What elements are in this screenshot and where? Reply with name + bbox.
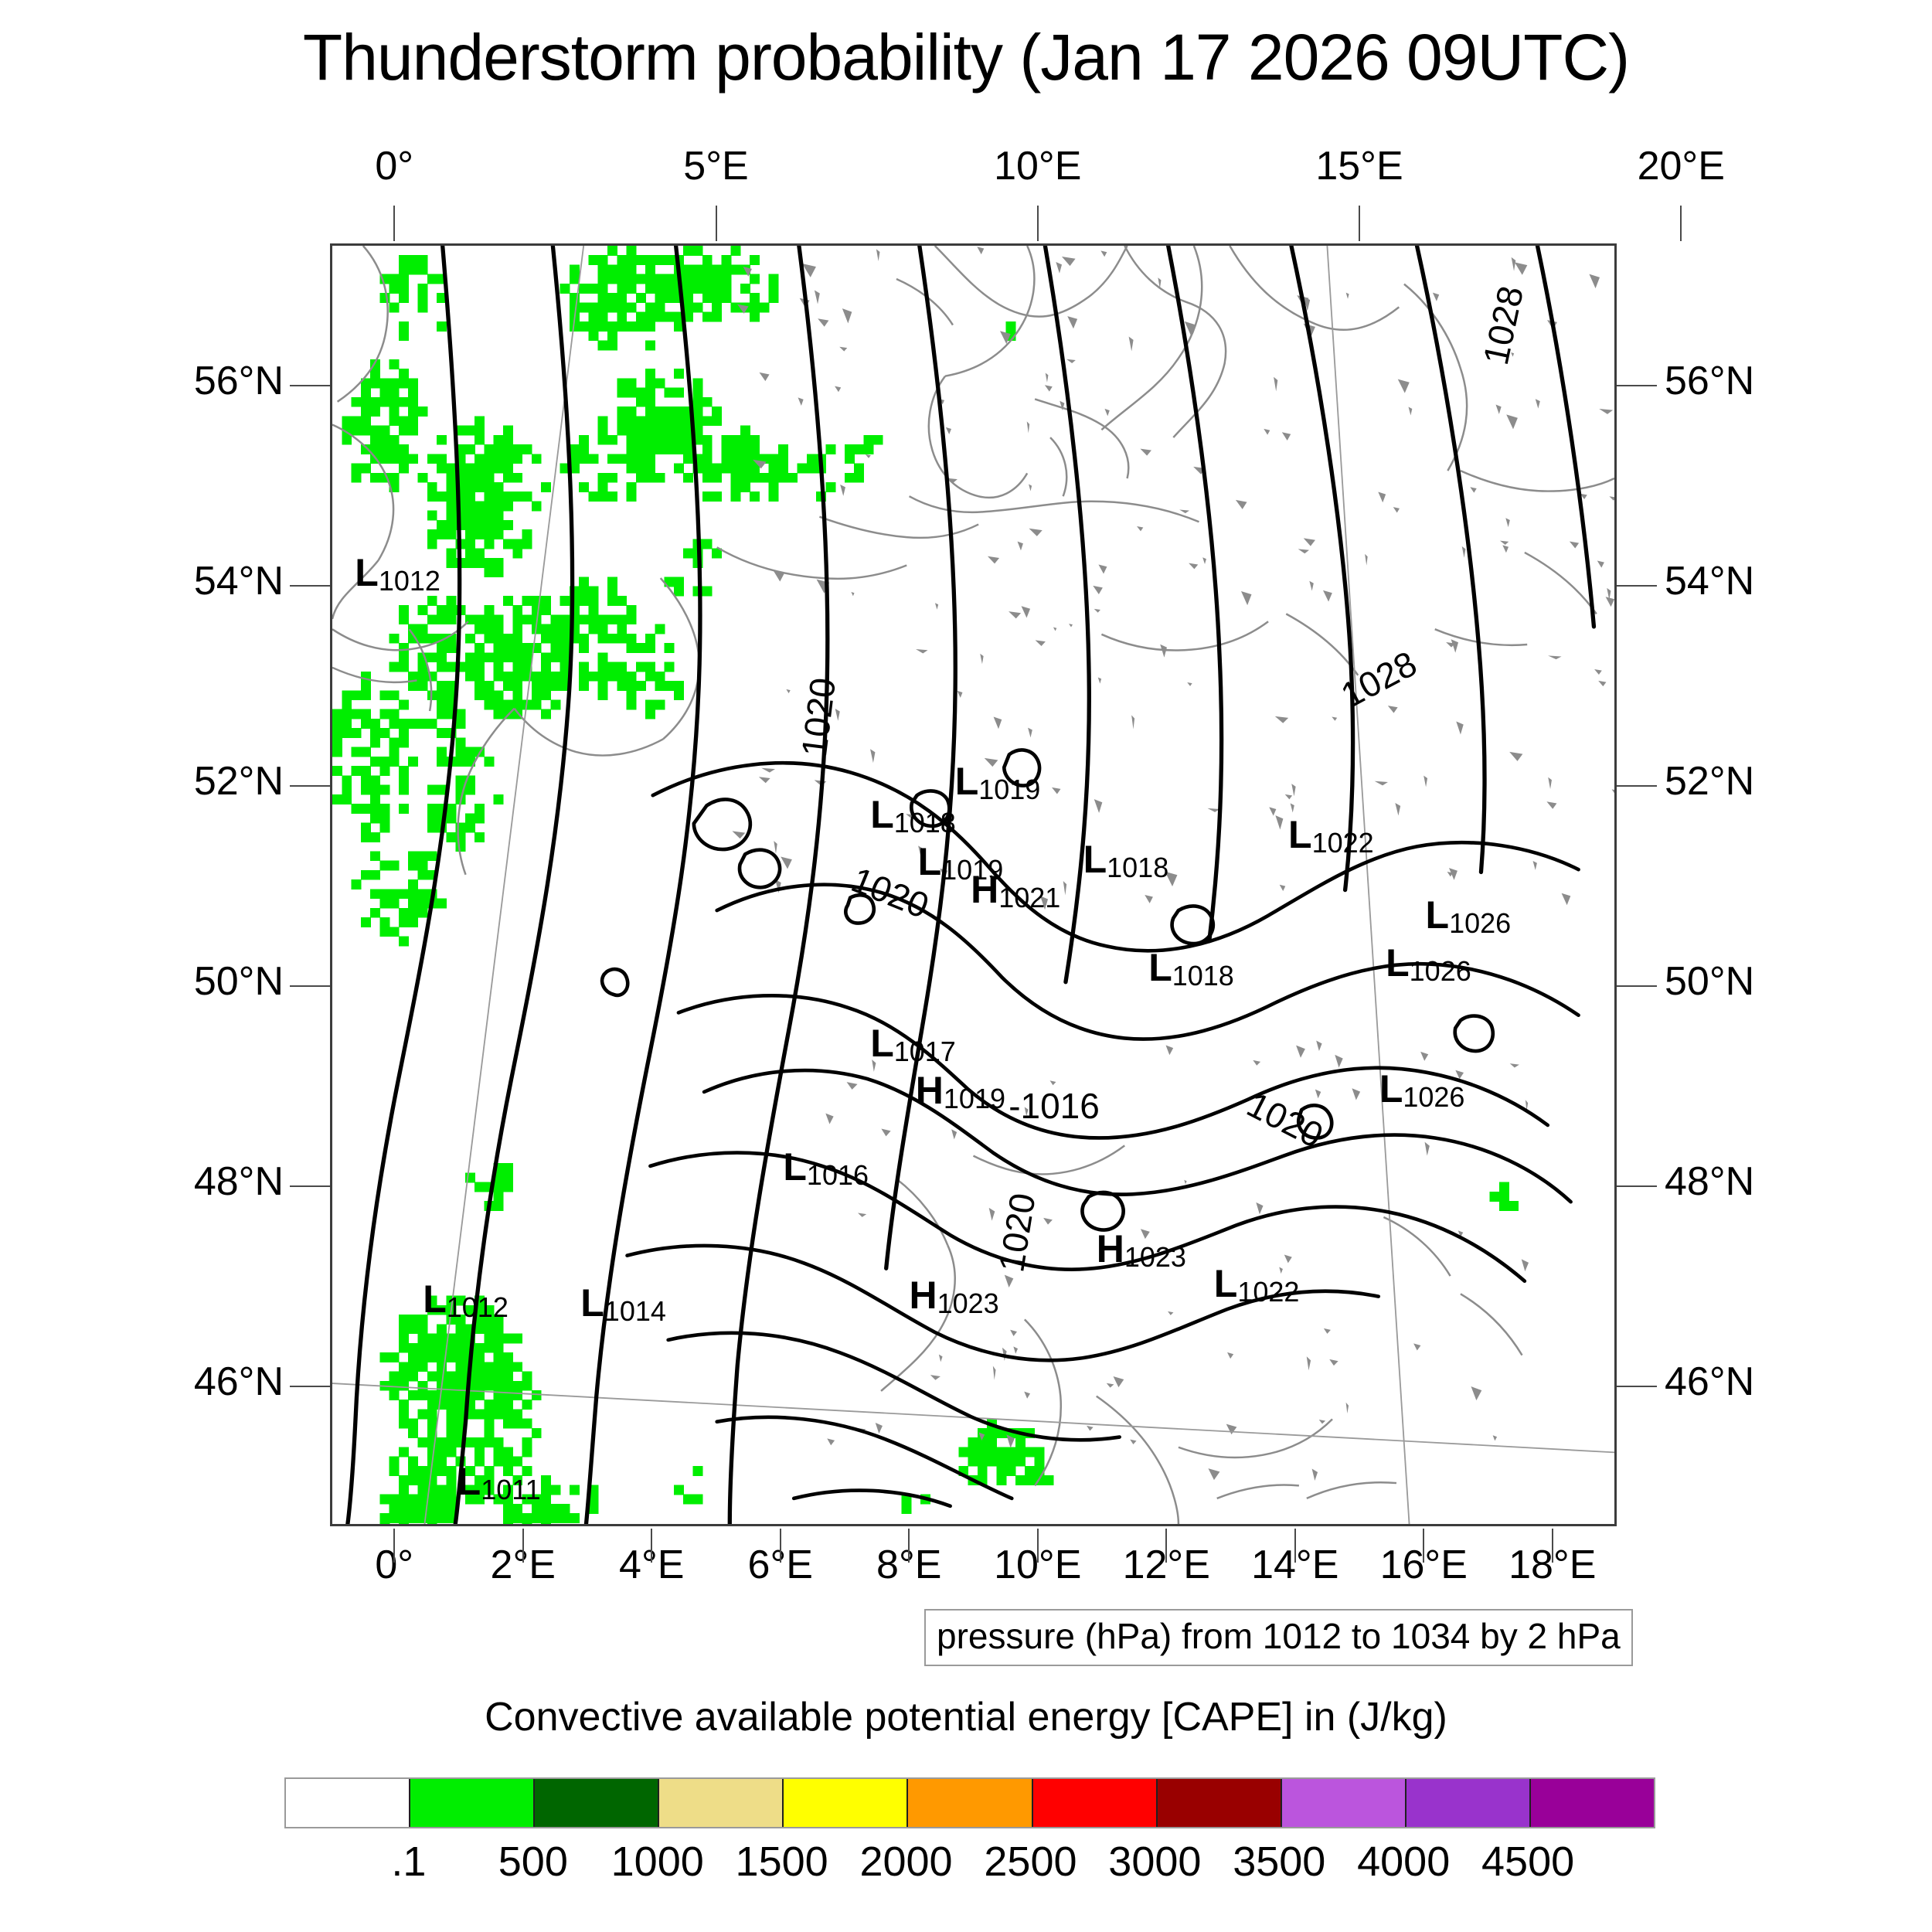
pressure-center-type: L [1148, 946, 1172, 989]
colorbar-caption: Convective available potential energy [C… [0, 1694, 1932, 1740]
pressure-center-l-18: L1014 [580, 1284, 666, 1325]
colorbar-label-7: 3500 [1233, 1838, 1325, 1886]
colorbar-swatch-6[interactable] [1032, 1779, 1156, 1827]
pressure-center-value: 1026 [1449, 907, 1511, 939]
lat-right-tick-4: 48°N [1665, 1158, 1842, 1205]
lon-top-tick-4: 20°E [1596, 143, 1766, 189]
pressure-center-type: L [870, 1022, 894, 1065]
pressure-center-type: L [955, 760, 979, 803]
pressure-center-value: 1016 [807, 1159, 869, 1191]
pressure-center-l-17: L1012 [423, 1280, 509, 1321]
pressure-center-type: H [1097, 1227, 1124, 1270]
lat-left-tick-2: 52°N [106, 758, 284, 804]
lon-top-tick-3: 15°E [1274, 143, 1444, 189]
pressure-center-type: L [1288, 813, 1312, 856]
colorbar-swatch-7[interactable] [1156, 1779, 1281, 1827]
pressure-center-value: 1018 [1107, 852, 1168, 883]
pressure-center-type: L [580, 1281, 604, 1325]
lat-right-tick-2: 52°N [1665, 758, 1842, 804]
pressure-center-value: 1026 [1410, 955, 1471, 987]
colorbar-label-6: 3000 [1108, 1838, 1201, 1886]
lat-left-tickmark-5 [290, 1386, 332, 1387]
lon-top-tick-2: 10°E [953, 143, 1123, 189]
lat-right-tickmark-2 [1615, 785, 1657, 787]
lon-bottom-tickmark-8 [1423, 1529, 1424, 1563]
pressure-center-value: 1026 [1403, 1081, 1464, 1113]
colorbar-label-4: 2000 [859, 1838, 952, 1886]
colorbar-label-2: 1000 [611, 1838, 704, 1886]
pressure-center-type: L [1379, 1067, 1403, 1111]
pressure-center-value: 1023 [937, 1287, 999, 1319]
lat-right-tickmark-1 [1615, 585, 1657, 587]
lat-right-tick-3: 50°N [1665, 958, 1842, 1005]
lon-top-tick-1: 5°E [631, 143, 801, 189]
pressure-center-l-12: L1026 [1379, 1070, 1465, 1111]
pressure-center-value: 1011 [481, 1474, 540, 1505]
colorbar-swatch-3[interactable] [658, 1779, 782, 1827]
lat-left-tickmark-0 [290, 385, 332, 386]
lat-right-tick-1: 54°N [1665, 558, 1842, 604]
colorbar-swatch-10[interactable] [1529, 1779, 1654, 1827]
colorbar-swatch-8[interactable] [1281, 1779, 1405, 1827]
lon-bottom-tickmark-3 [780, 1529, 781, 1563]
pressure-center-type: H [916, 1069, 944, 1112]
pressure-center-l-8: L1018 [1148, 948, 1234, 990]
pressure-center-l-0: L1012 [355, 553, 440, 595]
pressure-center-l-9: L1026 [1386, 944, 1471, 985]
lon-bottom-tickmark-5 [1037, 1529, 1039, 1563]
pressure-center-type: L [1083, 838, 1107, 881]
colorbar-label-1: 500 [498, 1838, 568, 1886]
lon-top-tickmark-4 [1680, 206, 1682, 241]
lat-left-tickmark-4 [290, 1185, 332, 1187]
pressure-center-type: L [1386, 941, 1410, 985]
lat-left-tickmark-3 [290, 985, 332, 987]
pressure-center-type: L [870, 793, 894, 836]
colorbar-swatch-1[interactable] [409, 1779, 533, 1827]
lat-left-tick-1: 54°N [106, 558, 284, 604]
lat-left-tick-4: 48°N [106, 1158, 284, 1205]
pressure-center-value: 1014 [604, 1295, 666, 1327]
pressure-center-h-11: H1019 [916, 1071, 1005, 1113]
lon-top-tickmark-1 [716, 206, 717, 241]
lon-top-tickmark-0 [393, 206, 395, 241]
lon-bottom-tickmark-2 [651, 1529, 652, 1563]
pressure-center-value: 1018 [1172, 960, 1234, 992]
lat-right-tick-5: 46°N [1665, 1359, 1842, 1405]
lat-left-tickmark-1 [290, 585, 332, 587]
colorbar-label-3: 1500 [736, 1838, 828, 1886]
lon-bottom-tickmark-4 [908, 1529, 910, 1563]
lon-bottom-tickmark-1 [522, 1529, 524, 1563]
pressure-note: pressure (hPa) from 1012 to 1034 by 2 hP… [924, 1609, 1633, 1666]
isobar-label-4: -1016 [1009, 1085, 1100, 1127]
pressure-center-l-13: L1016 [783, 1148, 869, 1189]
lat-left-tick-5: 46°N [106, 1359, 284, 1405]
pressure-center-value: 1023 [1124, 1241, 1186, 1273]
pressure-center-value: 1017 [894, 1036, 956, 1067]
lon-bottom-tickmark-0 [393, 1529, 395, 1563]
pressure-center-value: 1021 [998, 882, 1060, 913]
lat-right-tickmark-5 [1615, 1386, 1657, 1387]
lon-top-tickmark-3 [1359, 206, 1360, 241]
lat-left-tick-3: 50°N [106, 958, 284, 1005]
pressure-center-value: 1022 [1312, 827, 1374, 859]
lat-right-tickmark-0 [1615, 385, 1657, 386]
pressure-center-type: L [918, 840, 942, 883]
pressure-center-l-7: L1026 [1426, 896, 1512, 937]
pressure-center-value: 1018 [894, 807, 956, 838]
lon-top-tickmark-2 [1037, 206, 1039, 241]
colorbar-swatch-5[interactable] [906, 1779, 1031, 1827]
pressure-center-type: L [783, 1145, 807, 1189]
pressure-center-type: L [423, 1277, 447, 1321]
pressure-center-l-1: L1019 [955, 762, 1041, 804]
colorbar-label-5: 2500 [984, 1838, 1077, 1886]
pressure-center-type: L [1214, 1262, 1238, 1305]
lat-left-tick-0: 56°N [106, 358, 284, 404]
lon-top-tick-0: 0° [309, 143, 479, 189]
colorbar-swatch-4[interactable] [782, 1779, 906, 1827]
colorbar-tick-labels: .150010001500200025003000350040004500 [284, 1838, 1652, 1892]
pressure-center-value: 1022 [1237, 1276, 1299, 1308]
pressure-center-type: L [457, 1460, 481, 1503]
pressure-center-l-2: L1018 [870, 795, 956, 837]
pressure-center-l-16: L1022 [1214, 1264, 1300, 1306]
lon-bottom-tickmark-7 [1294, 1529, 1296, 1563]
pressure-center-value: 1019 [978, 774, 1040, 805]
colorbar-label-9: 4500 [1481, 1838, 1574, 1886]
pressure-center-value: 1012 [447, 1291, 509, 1323]
pressure-center-value: 1019 [944, 1083, 1005, 1114]
lat-right-tickmark-4 [1615, 1185, 1657, 1187]
pressure-center-h-15: H1023 [910, 1276, 999, 1318]
pressure-center-l-5: L1022 [1288, 815, 1374, 857]
colorbar-swatch-9[interactable] [1405, 1779, 1529, 1827]
pressure-center-type: H [971, 868, 998, 911]
map-plot-area[interactable]: L1012L1019L1018L1019L1018L1022H1021L1026… [330, 243, 1617, 1526]
colorbar-swatch-2[interactable] [533, 1779, 658, 1827]
lat-right-tick-0: 56°N [1665, 358, 1842, 404]
lat-right-tickmark-3 [1615, 985, 1657, 987]
lon-bottom-tickmark-9 [1552, 1529, 1553, 1563]
page-title: Thunderstorm probability (Jan 17 2026 09… [0, 20, 1932, 95]
colorbar-label-8: 4000 [1357, 1838, 1450, 1886]
pressure-center-l-4: L1018 [1083, 840, 1169, 882]
pressure-center-l-10: L1017 [870, 1024, 956, 1066]
pressure-center-h-14: H1023 [1097, 1230, 1186, 1271]
pressure-center-type: L [355, 551, 379, 594]
lon-bottom-tickmark-6 [1165, 1529, 1167, 1563]
pressure-center-type: L [1426, 893, 1450, 937]
pressure-center-type: H [910, 1274, 937, 1317]
colorbar-swatch-0[interactable] [286, 1779, 409, 1827]
cape-colorbar[interactable] [284, 1777, 1655, 1828]
pressure-center-value: 1012 [379, 565, 440, 597]
colorbar-label-0: .1 [391, 1838, 426, 1886]
pressure-center-l-19: L1011 [457, 1462, 541, 1504]
pressure-center-h-6: H1021 [971, 870, 1060, 912]
lat-left-tickmark-2 [290, 785, 332, 787]
